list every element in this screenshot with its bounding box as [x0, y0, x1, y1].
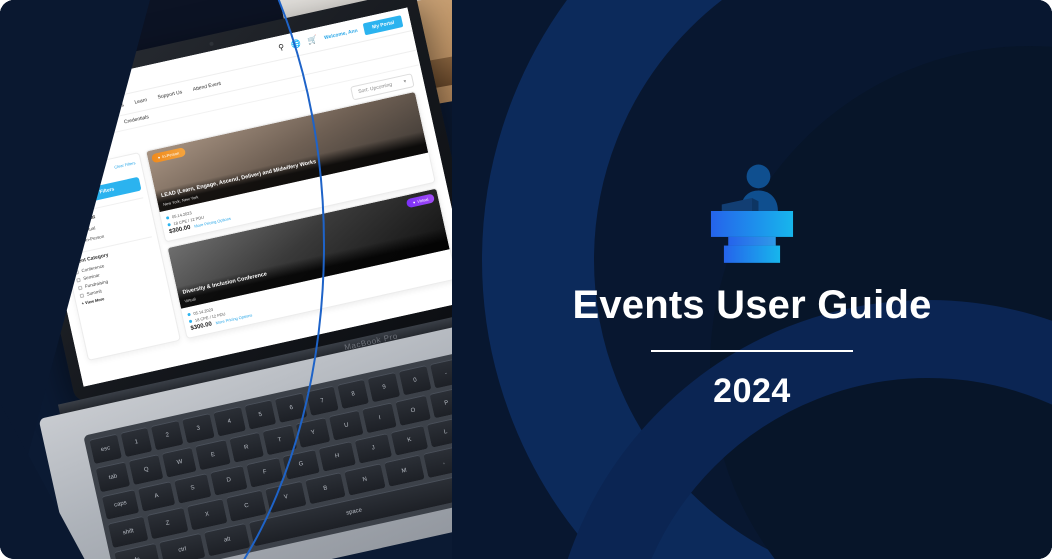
key[interactable]: alt: [204, 523, 250, 556]
credits-icon: [189, 320, 193, 324]
key[interactable]: Y: [296, 417, 331, 448]
nav-item-learn[interactable]: Learn: [134, 97, 148, 106]
chevron-down-icon: ▾: [403, 79, 407, 85]
podium-speaker-icon: [698, 157, 806, 265]
key[interactable]: T: [262, 424, 297, 455]
key[interactable]: E: [196, 439, 231, 470]
key[interactable]: S: [174, 473, 212, 504]
key[interactable]: F: [246, 457, 284, 488]
key[interactable]: X: [187, 499, 228, 531]
key[interactable]: 4: [213, 406, 245, 436]
my-portal-button[interactable]: My Portal: [363, 15, 403, 35]
cart-icon[interactable]: 🛒: [307, 35, 319, 46]
nav-item-attend-event[interactable]: Attend Event: [192, 80, 221, 92]
key[interactable]: 2: [151, 420, 183, 450]
podium-neck: [728, 236, 776, 245]
key[interactable]: J: [355, 433, 393, 464]
filter-option-label: In-Person: [84, 234, 104, 243]
sort-label: Sort: Upcoming: [358, 82, 393, 95]
key[interactable]: 3: [182, 413, 214, 443]
key[interactable]: K: [391, 425, 429, 456]
key[interactable]: caps: [102, 489, 140, 520]
key[interactable]: esc: [89, 434, 121, 464]
key[interactable]: H: [318, 441, 356, 472]
key[interactable]: 5: [244, 399, 276, 429]
event-format-badge: ● Virtual: [406, 193, 435, 208]
key[interactable]: U: [329, 409, 364, 440]
speaker-head: [747, 164, 771, 188]
checkbox-icon[interactable]: [76, 277, 81, 282]
title-content: Events User Guide 2024: [452, 0, 1052, 559]
key[interactable]: 6: [275, 392, 307, 422]
nav-item-credentials[interactable]: Credentials: [123, 114, 149, 125]
welcome-text: Welcome, Ann: [324, 27, 359, 40]
key[interactable]: Q: [129, 454, 164, 485]
events-user-guide-banner: ⚲ 🌐 🛒 Welcome, Ann My Portal: [0, 0, 1052, 559]
filter-option-label: Seminar: [83, 273, 100, 282]
key[interactable]: tab: [95, 461, 130, 492]
key[interactable]: C: [226, 490, 267, 522]
page-title: Events User Guide: [572, 283, 931, 328]
key[interactable]: N: [344, 464, 385, 496]
podium-top: [711, 211, 793, 237]
key[interactable]: 0: [399, 365, 431, 395]
webcam-icon: [209, 41, 214, 46]
credits-icon: [167, 223, 171, 227]
key[interactable]: R: [229, 432, 264, 463]
key[interactable]: M: [384, 455, 425, 487]
key[interactable]: I: [362, 402, 397, 433]
key[interactable]: G: [282, 449, 320, 480]
event-badge-label: Virtual: [417, 197, 429, 204]
year-label: 2024: [713, 372, 791, 411]
checkbox-icon[interactable]: [79, 293, 84, 298]
calendar-icon: [166, 216, 170, 220]
key[interactable]: W: [162, 446, 197, 477]
virtual-icon: ●: [412, 199, 415, 204]
title-panel: Events User Guide 2024: [452, 0, 1052, 559]
key[interactable]: 1: [120, 427, 152, 457]
key[interactable]: Z: [147, 507, 188, 539]
checkbox-icon[interactable]: [78, 285, 83, 290]
event-format-badge: ● In-Person: [151, 147, 186, 163]
key[interactable]: A: [138, 481, 176, 512]
key[interactable]: 8: [337, 379, 369, 409]
search-icon[interactable]: ⚲: [277, 42, 285, 52]
key[interactable]: shift: [108, 516, 149, 548]
nav-item-support-us[interactable]: Support Us: [157, 89, 183, 100]
filter-section-event-category: Event Category Conference Seminar: [71, 236, 164, 306]
key[interactable]: V: [266, 481, 307, 513]
filter-option-label: Summit: [86, 288, 102, 296]
key[interactable]: 7: [306, 386, 338, 416]
key[interactable]: ctrl: [159, 533, 205, 559]
calendar-icon: [187, 313, 191, 317]
globe-icon[interactable]: 🌐: [290, 39, 302, 50]
key[interactable]: B: [305, 472, 346, 504]
in-person-icon: ●: [157, 155, 160, 160]
podium-base: [724, 245, 780, 262]
key[interactable]: O: [396, 395, 431, 426]
title-divider: [651, 350, 853, 352]
event-badge-label: In-Person: [162, 150, 180, 159]
key[interactable]: D: [210, 465, 248, 496]
key[interactable]: 9: [368, 372, 400, 402]
